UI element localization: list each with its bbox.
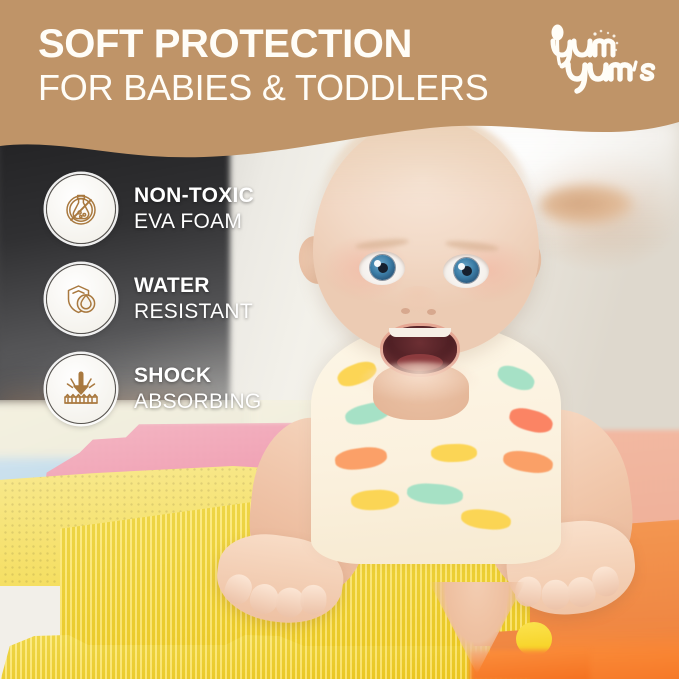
feature-title: SHOCK	[134, 365, 262, 387]
page-title: SOFT PROTECTION FOR BABIES & TODDLERS	[38, 24, 508, 108]
feature-subtitle: EVA FOAM	[134, 211, 254, 233]
feature-non-toxic: NON-TOXIC EVA FOAM	[46, 174, 254, 244]
baby-iris	[454, 258, 479, 283]
feature-badge-circle	[46, 264, 116, 334]
baby-finger	[300, 584, 327, 615]
product-marketing-image: SOFT PROTECTION FOR BABIES & TODDLERS	[0, 0, 679, 679]
no-chemicals-flask-icon	[59, 187, 103, 231]
baby-upper-gum	[389, 328, 451, 337]
top-pattern-stroke	[334, 444, 388, 472]
top-pattern-stroke	[460, 507, 512, 531]
top-pattern-stroke	[502, 449, 554, 476]
feature-title: NON-TOXIC	[134, 185, 254, 207]
baby-right-eye	[443, 254, 489, 288]
top-pattern-stroke	[406, 482, 463, 506]
headline-line-2: FOR BABIES & TODDLERS	[38, 68, 508, 108]
top-pattern-stroke	[350, 488, 399, 511]
baby-nostril	[427, 309, 436, 315]
feature-badge-circle	[46, 174, 116, 244]
feature-subtitle: ABSORBING	[134, 391, 262, 413]
baby-eye-glint	[374, 260, 381, 267]
baby-iris	[370, 255, 395, 280]
feature-water-resistant: WATER RESISTANT	[46, 264, 253, 334]
shock-absorbing-arrow-mat-icon	[58, 366, 104, 412]
feature-shock-absorbing: SHOCK ABSORBING	[46, 354, 262, 424]
baby-left-eye	[359, 251, 405, 285]
shield-water-drop-icon	[59, 277, 103, 321]
baby-chin-highlight	[359, 362, 479, 402]
headline-line-1: SOFT PROTECTION	[38, 24, 508, 66]
top-pattern-stroke	[507, 405, 555, 436]
yum-yums-logo	[548, 24, 658, 96]
baby-finger	[542, 580, 570, 610]
baby-nostril	[401, 308, 410, 314]
feature-title: WATER	[134, 275, 253, 297]
baby-eye-glint	[458, 263, 465, 270]
feature-text: NON-TOXIC EVA FOAM	[134, 185, 254, 232]
top-pattern-stroke	[431, 443, 478, 463]
feature-text: WATER RESISTANT	[134, 275, 253, 322]
mat-tile-orange-front-edge	[470, 650, 590, 679]
top-pattern-stroke	[495, 362, 538, 394]
feature-subtitle: RESISTANT	[134, 301, 253, 323]
feature-badge-circle	[46, 354, 116, 424]
baby-subject	[255, 118, 679, 558]
feature-text: SHOCK ABSORBING	[134, 365, 262, 412]
